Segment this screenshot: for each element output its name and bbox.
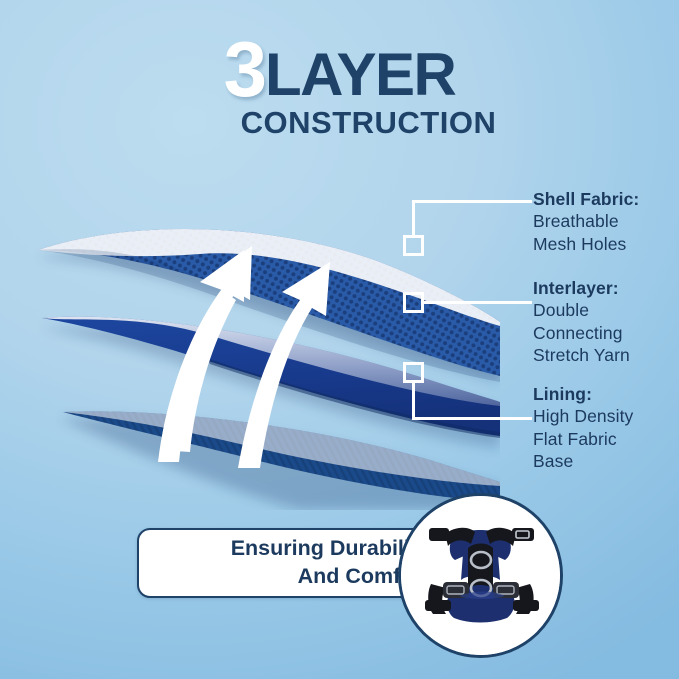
callout-label-interlayer: Interlayer: Double Connecting Stretch Ya… — [533, 277, 630, 367]
callout-line-horizontal-shell — [412, 200, 532, 203]
title-number: 3 — [224, 32, 265, 107]
infographic-canvas: 3 LAYER CONSTRUCTION — [0, 0, 679, 679]
callout-marker-lining — [403, 362, 424, 383]
callout-line-vertical-shell — [412, 200, 415, 238]
title-subtitle: CONSTRUCTION — [0, 107, 679, 138]
title-word-layer: LAYER — [265, 46, 455, 104]
product-photo-badge — [398, 493, 563, 658]
callout-line-horizontal-interlayer — [424, 301, 532, 304]
callout-label-lining: Lining: High Density Flat Fabric Base — [533, 383, 633, 473]
callout-line-vertical-lining — [412, 383, 415, 420]
callout-label-shell: Shell Fabric: Breathable Mesh Holes — [533, 188, 639, 255]
callout-line-horizontal-lining — [412, 417, 532, 420]
callout-marker-interlayer — [403, 292, 424, 313]
title-block: 3 LAYER CONSTRUCTION — [0, 30, 679, 138]
dog-harness-icon — [401, 496, 560, 655]
callout-marker-shell — [403, 235, 424, 256]
fabric-layers-illustration — [0, 150, 500, 510]
title-main-row: 3 LAYER — [0, 30, 679, 105]
